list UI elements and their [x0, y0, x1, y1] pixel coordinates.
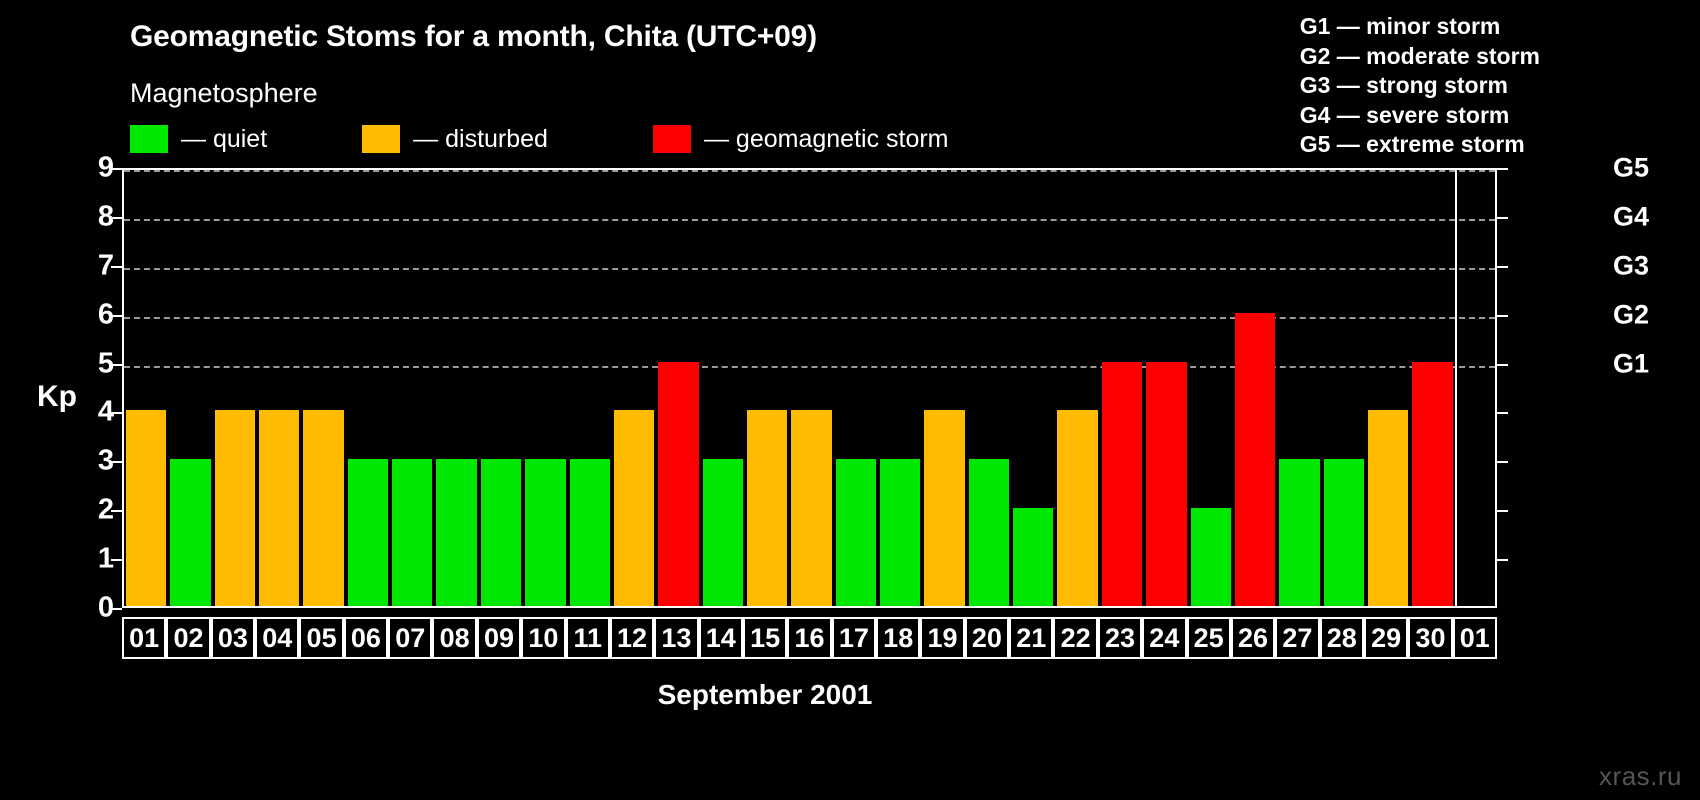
legend-label-2: — geomagnetic storm [704, 125, 949, 154]
date-box-2[interactable]: 03 [211, 617, 255, 659]
date-box-4[interactable]: 05 [299, 617, 343, 659]
date-box-25[interactable]: 26 [1231, 617, 1275, 659]
y-tick-label-3: 3 [74, 445, 114, 478]
bar-day-07[interactable] [392, 459, 432, 606]
date-box-20[interactable]: 21 [1009, 617, 1053, 659]
bar-day-17[interactable] [836, 459, 876, 606]
bar-day-16[interactable] [791, 410, 831, 606]
date-box-30[interactable]: 01 [1453, 617, 1497, 659]
bar-day-24[interactable] [1146, 362, 1186, 606]
plot-inner [124, 170, 1495, 606]
y-tick-mark-5 [111, 364, 122, 366]
date-box-0[interactable]: 01 [122, 617, 166, 659]
y-tick-mark-8 [111, 217, 122, 219]
x-axis-caption: September 2001 [0, 679, 1530, 711]
y-tick-mark-4 [111, 412, 122, 414]
y-tick-mark-0 [111, 608, 122, 610]
y-tick-label-1: 1 [74, 543, 114, 576]
legend-swatch-0 [130, 125, 168, 153]
right-tick-mark-G2 [1497, 315, 1508, 317]
bar-day-15[interactable] [747, 410, 787, 606]
legend-label-0: — quiet [181, 125, 267, 154]
date-box-23[interactable]: 24 [1142, 617, 1186, 659]
bar-day-26[interactable] [1235, 313, 1275, 606]
g-scale-line-4: G4 — severe storm [1300, 101, 1540, 131]
right-minor-tick-kp-3 [1497, 461, 1508, 463]
date-box-21[interactable]: 22 [1053, 617, 1097, 659]
right-tick-label-G1: G1 [1613, 348, 1649, 379]
g-scale-line-5: G5 — extreme storm [1300, 130, 1540, 160]
y-axis-title: Kp [37, 380, 77, 414]
legend-label-1: — disturbed [413, 125, 548, 154]
date-box-17[interactable]: 18 [876, 617, 920, 659]
bar-day-23[interactable] [1102, 362, 1142, 606]
legend-item-0: — quiet [130, 124, 267, 154]
date-box-27[interactable]: 28 [1320, 617, 1364, 659]
trailing-column-divider [1455, 170, 1457, 606]
bar-day-06[interactable] [348, 459, 388, 606]
date-box-15[interactable]: 16 [787, 617, 831, 659]
date-box-3[interactable]: 04 [255, 617, 299, 659]
date-box-29[interactable]: 30 [1408, 617, 1452, 659]
magnetosphere-legend: — quiet— disturbed— geomagnetic storm [130, 124, 949, 154]
date-box-28[interactable]: 29 [1364, 617, 1408, 659]
plot-area [122, 168, 1497, 608]
bar-day-03[interactable] [215, 410, 255, 606]
right-tick-mark-G4 [1497, 217, 1508, 219]
bar-day-11[interactable] [570, 459, 610, 606]
bar-day-19[interactable] [924, 410, 964, 606]
date-box-26[interactable]: 27 [1275, 617, 1319, 659]
bar-day-25[interactable] [1191, 508, 1231, 606]
legend-heading: Magnetosphere [130, 78, 318, 109]
bars-layer [124, 170, 1495, 606]
right-tick-label-G5: G5 [1613, 153, 1649, 184]
right-tick-label-G3: G3 [1613, 250, 1649, 281]
bar-day-05[interactable] [303, 410, 343, 606]
bar-day-27[interactable] [1279, 459, 1319, 606]
g-scale-legend: G1 — minor stormG2 — moderate stormG3 — … [1300, 12, 1540, 160]
y-tick-mark-1 [111, 559, 122, 561]
y-tick-mark-2 [111, 510, 122, 512]
date-box-19[interactable]: 20 [965, 617, 1009, 659]
y-tick-mark-6 [111, 315, 122, 317]
y-tick-label-6: 6 [74, 298, 114, 331]
x-axis-date-labels: 0102030405060708091011121314151617181920… [122, 617, 1497, 659]
bar-day-28[interactable] [1324, 459, 1364, 606]
bar-day-22[interactable] [1057, 410, 1097, 606]
right-minor-tick-kp-1 [1497, 559, 1508, 561]
date-box-1[interactable]: 02 [166, 617, 210, 659]
y-tick-mark-7 [111, 266, 122, 268]
y-tick-label-0: 0 [74, 592, 114, 625]
right-tick-mark-G1 [1497, 364, 1508, 366]
date-box-7[interactable]: 08 [432, 617, 476, 659]
y-tick-label-2: 2 [74, 494, 114, 527]
y-tick-label-5: 5 [74, 347, 114, 380]
bar-day-08[interactable] [436, 459, 476, 606]
right-minor-tick-kp-2 [1497, 510, 1508, 512]
date-box-24[interactable]: 25 [1187, 617, 1231, 659]
date-box-14[interactable]: 15 [743, 617, 787, 659]
bar-day-13[interactable] [658, 362, 698, 606]
date-box-5[interactable]: 06 [344, 617, 388, 659]
bar-day-14[interactable] [703, 459, 743, 606]
y-tick-mark-3 [111, 461, 122, 463]
date-box-10[interactable]: 11 [566, 617, 610, 659]
legend-item-2: — geomagnetic storm [653, 124, 949, 154]
date-box-9[interactable]: 10 [521, 617, 565, 659]
date-box-13[interactable]: 14 [699, 617, 743, 659]
y-tick-label-8: 8 [74, 200, 114, 233]
bar-day-09[interactable] [481, 459, 521, 606]
y-tick-label-7: 7 [74, 249, 114, 282]
date-box-12[interactable]: 13 [654, 617, 698, 659]
bar-day-02[interactable] [170, 459, 210, 606]
g-scale-line-1: G1 — minor storm [1300, 12, 1540, 42]
g-scale-line-2: G2 — moderate storm [1300, 42, 1540, 72]
bar-day-20[interactable] [969, 459, 1009, 606]
legend-item-1: — disturbed [362, 124, 548, 154]
page-title: Geomagnetic Stoms for a month, Chita (UT… [130, 20, 817, 54]
right-tick-mark-G5 [1497, 168, 1508, 170]
legend-swatch-1 [362, 125, 400, 153]
date-box-11[interactable]: 12 [610, 617, 654, 659]
legend-swatch-2 [653, 125, 691, 153]
bar-day-18[interactable] [880, 459, 920, 606]
bar-day-21[interactable] [1013, 508, 1053, 606]
watermark: xras.ru [1599, 761, 1682, 792]
y-tick-label-4: 4 [74, 396, 114, 429]
bar-day-29[interactable] [1368, 410, 1408, 606]
bar-day-04[interactable] [259, 410, 299, 606]
bar-day-10[interactable] [525, 459, 565, 606]
y-tick-mark-9 [111, 168, 122, 170]
right-minor-tick-kp-4 [1497, 412, 1508, 414]
geomagnetic-storm-chart: Geomagnetic Stoms for a month, Chita (UT… [0, 0, 1700, 800]
right-tick-mark-G3 [1497, 266, 1508, 268]
g-scale-line-3: G3 — strong storm [1300, 71, 1540, 101]
bar-day-12[interactable] [614, 410, 654, 606]
date-box-8[interactable]: 09 [477, 617, 521, 659]
date-box-18[interactable]: 19 [920, 617, 964, 659]
date-box-22[interactable]: 23 [1098, 617, 1142, 659]
bar-day-30[interactable] [1412, 362, 1452, 606]
bar-day-01[interactable] [126, 410, 166, 606]
right-tick-label-G2: G2 [1613, 299, 1649, 330]
y-tick-label-9: 9 [74, 152, 114, 185]
date-box-16[interactable]: 17 [832, 617, 876, 659]
date-box-6[interactable]: 07 [388, 617, 432, 659]
right-tick-label-G4: G4 [1613, 201, 1649, 232]
